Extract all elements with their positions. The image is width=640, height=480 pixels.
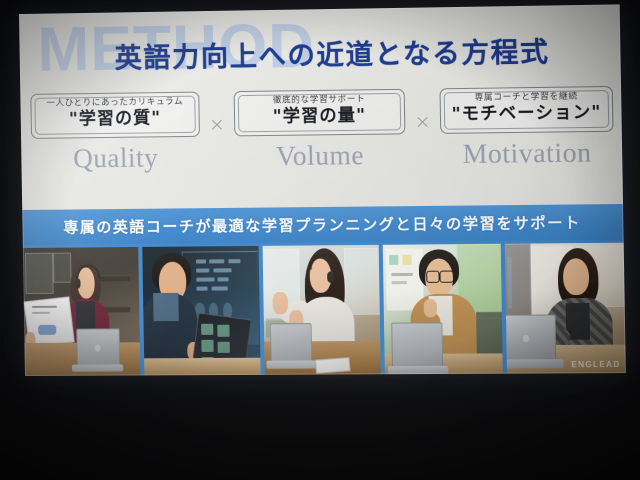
photo-2 <box>142 246 260 375</box>
photo-3 <box>262 245 381 375</box>
concept-volume-term: "学習の量" <box>239 106 400 128</box>
concept-motivation-english: Motivation <box>462 139 591 168</box>
support-message-text: 専属の英語コーチが最適な学習プランニングと日々の学習をサポート <box>63 212 581 238</box>
photo-4 <box>383 244 503 374</box>
multiply-operator-2: × <box>407 113 438 133</box>
slide-headline: 英語力向上への近道となる方程式 <box>19 29 620 77</box>
concept-volume-box: 徹底的な学習サポート "学習の量" <box>234 89 406 137</box>
concept-motivation-box: 専属コーチと学習を継続 "モチベーション" <box>439 86 613 134</box>
support-message-band: 専属の英語コーチが最適な学習プランニングと日々の学習をサポート <box>22 204 623 245</box>
photo-5: ENGLEAD <box>505 243 626 374</box>
concept-volume-kicker: 徹底的な学習サポート <box>239 95 400 107</box>
concept-volume: 徹底的な学習サポート "学習の量" Volume <box>232 89 408 171</box>
projected-slide: METHOD 英語力向上への近道となる方程式 一人ひとりにあったカリキュラム "… <box>19 4 626 376</box>
concept-quality-term: "学習の質" <box>36 109 195 131</box>
concept-quality-box: 一人ひとりにあったカリキュラム "学習の質" <box>30 92 200 139</box>
concept-quality-kicker: 一人ひとりにあったカリキュラム <box>35 98 194 109</box>
concept-row: 一人ひとりにあったカリキュラム "学習の質" Quality × 徹底的な学習サ… <box>28 86 616 202</box>
concept-motivation-term: "モチベーション" <box>445 104 608 126</box>
concept-quality: 一人ひとりにあったカリキュラム "学習の質" Quality <box>28 92 202 173</box>
multiply-operator-1: × <box>202 115 233 134</box>
concept-volume-english: Volume <box>276 142 365 170</box>
concept-quality-english: Quality <box>73 144 158 172</box>
photo-1 <box>23 247 140 376</box>
slide-canvas: METHOD 英語力向上への近道となる方程式 一人ひとりにあったカリキュラム "… <box>19 4 626 376</box>
englead-watermark: ENGLEAD <box>571 360 620 369</box>
projection-room: METHOD 英語力向上への近道となる方程式 一人ひとりにあったカリキュラム "… <box>0 0 640 480</box>
photo-strip: ENGLEAD <box>23 240 626 376</box>
concept-motivation: 専属コーチと学習を継続 "モチベーション" Motivation <box>437 86 616 168</box>
